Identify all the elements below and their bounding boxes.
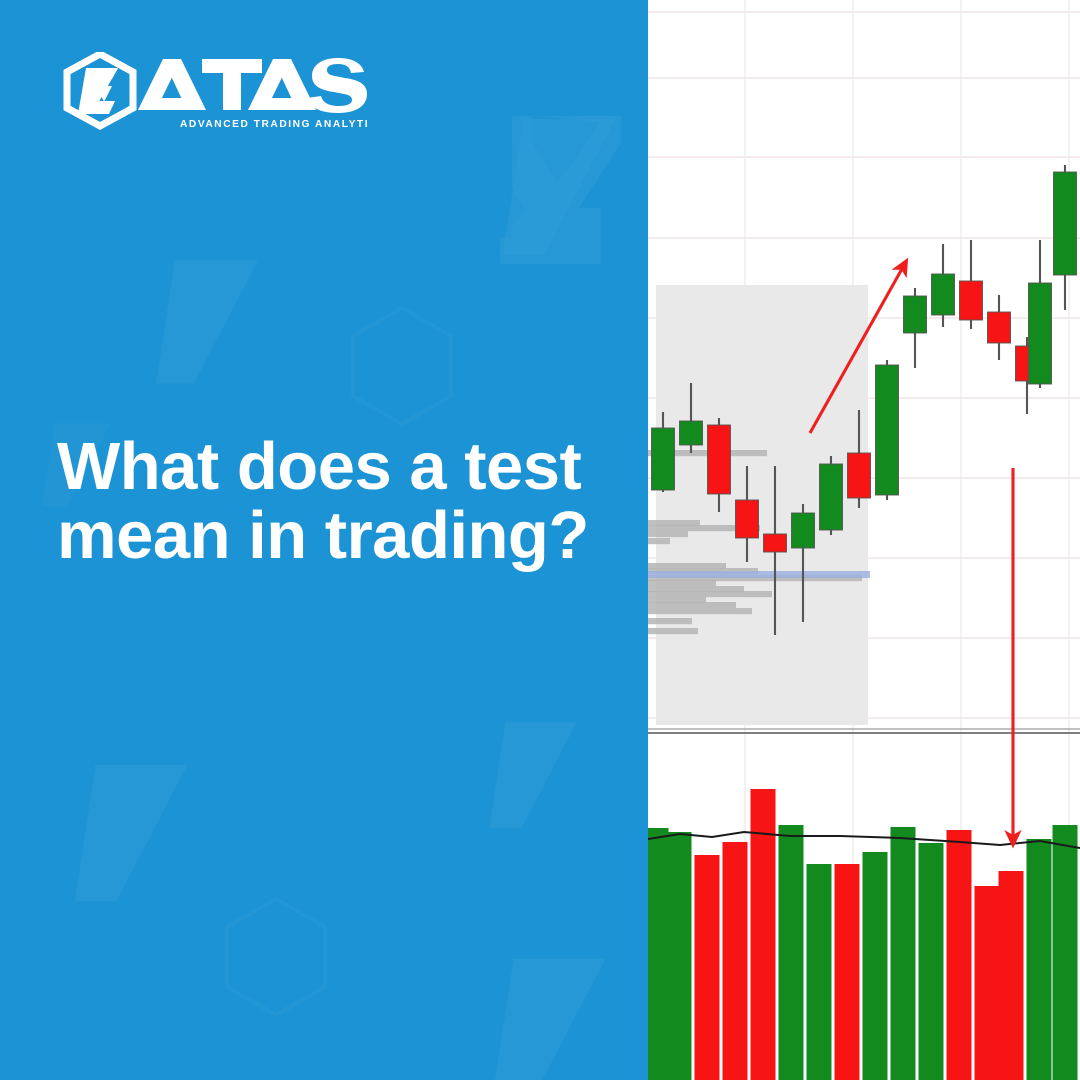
atas-z-glyph-watermark-1 [490, 110, 640, 270]
atas-z-glyph-watermark-3 [62, 756, 212, 916]
logo-tagline: ADVANCED TRADING ANALYTICAL SOFTWARE [180, 119, 367, 130]
atas-hexagon-z-logo-mark [67, 54, 133, 126]
page-title-line-2: mean in trading? [57, 501, 617, 570]
hexagon-outline-watermark-1 [348, 305, 456, 432]
volume-profile-bar-10 [648, 591, 772, 597]
candle-body-4-down [764, 534, 787, 552]
hexagon-outline-watermark-2 [222, 896, 330, 1023]
volume-bar-15-up [1053, 825, 1078, 1080]
candle-body-10-up [932, 274, 955, 315]
candle-body-14-up [1029, 283, 1052, 384]
volume-moving-average-line [648, 832, 1080, 848]
candle-body-0-up [652, 428, 675, 490]
candle-body-5-up [792, 513, 815, 548]
volume-bar-1-up [667, 832, 692, 1080]
atas-z-glyph-watermark-2 [145, 252, 280, 397]
trading-chart [648, 0, 1080, 1080]
page-title: What does a test mean in trading? [57, 432, 617, 570]
volume-bar-3-down [723, 842, 748, 1080]
volume-profile-bar-12 [648, 602, 736, 608]
candle-body-15-up [1054, 172, 1077, 275]
volume-profile-bar-14 [648, 618, 692, 624]
candle-body-3-down [736, 500, 759, 538]
volume-bar-14-up [1027, 839, 1052, 1080]
volume-bar-13-down [999, 871, 1024, 1080]
volume-profile-bar-8 [648, 580, 716, 586]
volume-bar-10-up [919, 843, 944, 1080]
volume-bar-9-up [891, 827, 916, 1080]
atas-wordmark [138, 58, 367, 113]
volume-bar-8-up [863, 852, 888, 1080]
atas-z-glyph-watermark-4 [480, 715, 595, 840]
candle-body-9-up [904, 296, 927, 333]
brand-panel: ADVANCED TRADING ANALYTICAL SOFTWARE Wha… [0, 0, 648, 1080]
volume-bar-2-down [695, 855, 720, 1080]
candle-body-8-up [876, 365, 899, 495]
volume-bar-5-up [779, 825, 804, 1080]
volume-profile-bar-15 [648, 628, 698, 634]
page-title-line-1: What does a test [57, 432, 617, 501]
candle-body-11-down [960, 281, 983, 320]
candle-body-6-up [820, 464, 843, 530]
atas-z-glyph-watermark-5 [480, 950, 630, 1080]
volume-bar-6-up [807, 864, 832, 1080]
poc-line [648, 571, 870, 578]
volume-bar-0-up [648, 828, 669, 1080]
candle-body-1-up [680, 421, 703, 445]
volume-bar-12-down [975, 886, 1000, 1080]
social-card: ADVANCED TRADING ANALYTICAL SOFTWARE Wha… [0, 0, 1080, 1080]
volume-profile-bar-3 [648, 531, 688, 537]
candle-body-7-down [848, 453, 871, 498]
volume-bar-7-down [835, 864, 860, 1080]
volume-profile-bar-4 [648, 538, 670, 544]
candle-body-2-down [708, 425, 731, 494]
candle-body-12-down [988, 312, 1011, 343]
atas-logo: ADVANCED TRADING ANALYTICAL SOFTWARE [62, 52, 367, 132]
volume-profile-bar-13 [648, 608, 752, 614]
volume-bar-11-down [947, 830, 972, 1080]
